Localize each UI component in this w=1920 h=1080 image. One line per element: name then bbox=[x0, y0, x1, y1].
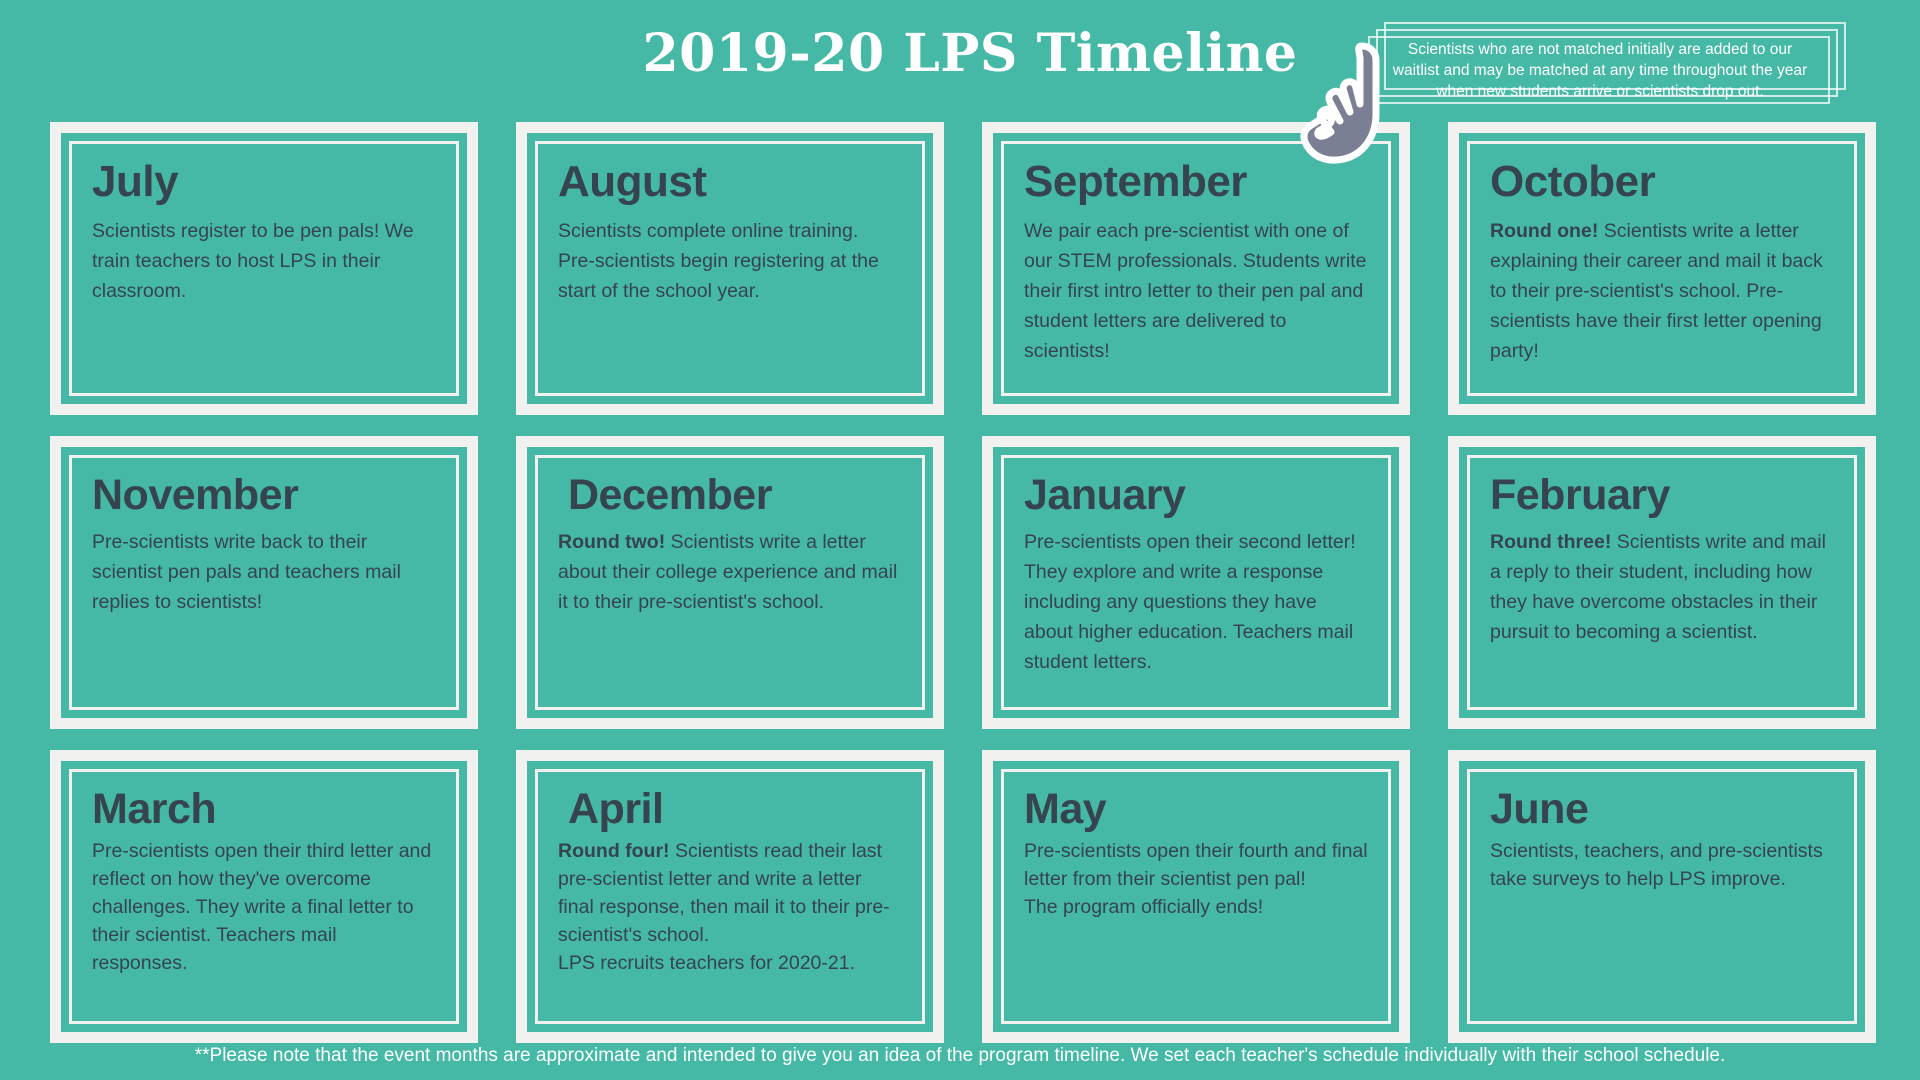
card-inner-frame: September We pair each pre-scientist wit… bbox=[1001, 141, 1391, 396]
month-card-december: December Round two! Scientists write a l… bbox=[516, 436, 944, 729]
card-inner-frame: April Round four! Scientists read their … bbox=[535, 769, 925, 1024]
month-heading: August bbox=[558, 160, 902, 204]
month-card-august: August Scientists complete online traini… bbox=[516, 122, 944, 415]
month-card-january: January Pre-scientists open their second… bbox=[982, 436, 1410, 729]
waitlist-tooltip: Scientists who are not matched initially… bbox=[1368, 22, 1846, 104]
footnote-text: **Please note that the event months are … bbox=[0, 1044, 1920, 1068]
month-heading: February bbox=[1490, 474, 1834, 517]
month-heading: March bbox=[92, 788, 436, 831]
month-card-june: June Scientists, teachers, and pre-scien… bbox=[1448, 750, 1876, 1043]
month-description: Pre-scientists open their third letter a… bbox=[92, 837, 436, 977]
round-label: Round two! bbox=[558, 531, 665, 553]
month-description: Scientists, teachers, and pre-scientists… bbox=[1490, 837, 1834, 893]
round-label: Round one! bbox=[1490, 220, 1598, 242]
card-inner-frame: March Pre-scientists open their third le… bbox=[69, 769, 459, 1024]
month-card-july: July Scientists register to be pen pals!… bbox=[50, 122, 478, 415]
round-label: Round four! bbox=[558, 840, 670, 862]
card-inner-frame: November Pre-scientists write back to th… bbox=[69, 455, 459, 710]
month-body-text: Scientists complete online training.Pre-… bbox=[558, 220, 879, 302]
month-heading: December bbox=[558, 474, 902, 517]
month-description: Round two! Scientists write a letter abo… bbox=[558, 527, 902, 617]
month-card-november: November Pre-scientists write back to th… bbox=[50, 436, 478, 729]
month-description: Scientists complete online training.Pre-… bbox=[558, 216, 902, 306]
month-description: Pre-scientists write back to their scien… bbox=[92, 527, 436, 617]
month-heading: January bbox=[1024, 474, 1368, 517]
month-body-text: We pair each pre-scientist with one of o… bbox=[1024, 220, 1366, 362]
card-inner-frame: February Round three! Scientists write a… bbox=[1467, 455, 1857, 710]
month-body-text: Pre-scientists open their third letter a… bbox=[92, 840, 431, 974]
month-card-february: February Round three! Scientists write a… bbox=[1448, 436, 1876, 729]
month-description: Pre-scientists open their fourth and fin… bbox=[1024, 837, 1368, 921]
month-body-text: Scientists, teachers, and pre-scientists… bbox=[1490, 840, 1823, 890]
page-title: 2019-20 LPS Timeline bbox=[622, 28, 1297, 80]
month-heading: June bbox=[1490, 788, 1834, 831]
card-inner-frame: May Pre-scientists open their fourth and… bbox=[1001, 769, 1391, 1024]
month-card-april: April Round four! Scientists read their … bbox=[516, 750, 944, 1043]
month-heading: April bbox=[558, 788, 902, 831]
month-card-october: October Round one! Scientists write a le… bbox=[1448, 122, 1876, 415]
month-description: Scientists register to be pen pals! We t… bbox=[92, 216, 436, 306]
card-inner-frame: December Round two! Scientists write a l… bbox=[535, 455, 925, 710]
tooltip-text: Scientists who are not matched initially… bbox=[1378, 38, 1822, 102]
round-label: Round three! bbox=[1490, 531, 1611, 553]
month-description: Round four! Scientists read their last p… bbox=[558, 837, 902, 977]
card-inner-frame: June Scientists, teachers, and pre-scien… bbox=[1467, 769, 1857, 1024]
month-description: Round one! Scientists write a letter exp… bbox=[1490, 216, 1834, 366]
card-inner-frame: January Pre-scientists open their second… bbox=[1001, 455, 1391, 710]
month-heading: October bbox=[1490, 160, 1834, 204]
month-description: We pair each pre-scientist with one of o… bbox=[1024, 216, 1368, 366]
card-inner-frame: October Round one! Scientists write a le… bbox=[1467, 141, 1857, 396]
month-heading: July bbox=[92, 160, 436, 204]
month-heading: September bbox=[1024, 160, 1368, 204]
month-body-text: Pre-scientists open their fourth and fin… bbox=[1024, 840, 1368, 918]
month-description: Round three! Scientists write and mail a… bbox=[1490, 527, 1834, 647]
card-inner-frame: July Scientists register to be pen pals!… bbox=[69, 141, 459, 396]
month-body-text: Pre-scientists open their second letter!… bbox=[1024, 531, 1356, 673]
timeline-grid: July Scientists register to be pen pals!… bbox=[50, 122, 1876, 1043]
month-body-text: Pre-scientists write back to their scien… bbox=[92, 531, 401, 613]
month-card-september: September We pair each pre-scientist wit… bbox=[982, 122, 1410, 415]
month-card-may: May Pre-scientists open their fourth and… bbox=[982, 750, 1410, 1043]
month-heading: May bbox=[1024, 788, 1368, 831]
month-heading: November bbox=[92, 474, 436, 517]
card-inner-frame: August Scientists complete online traini… bbox=[535, 141, 925, 396]
month-description: Pre-scientists open their second letter!… bbox=[1024, 527, 1368, 677]
month-body-text: Scientists register to be pen pals! We t… bbox=[92, 220, 414, 302]
month-card-march: March Pre-scientists open their third le… bbox=[50, 750, 478, 1043]
